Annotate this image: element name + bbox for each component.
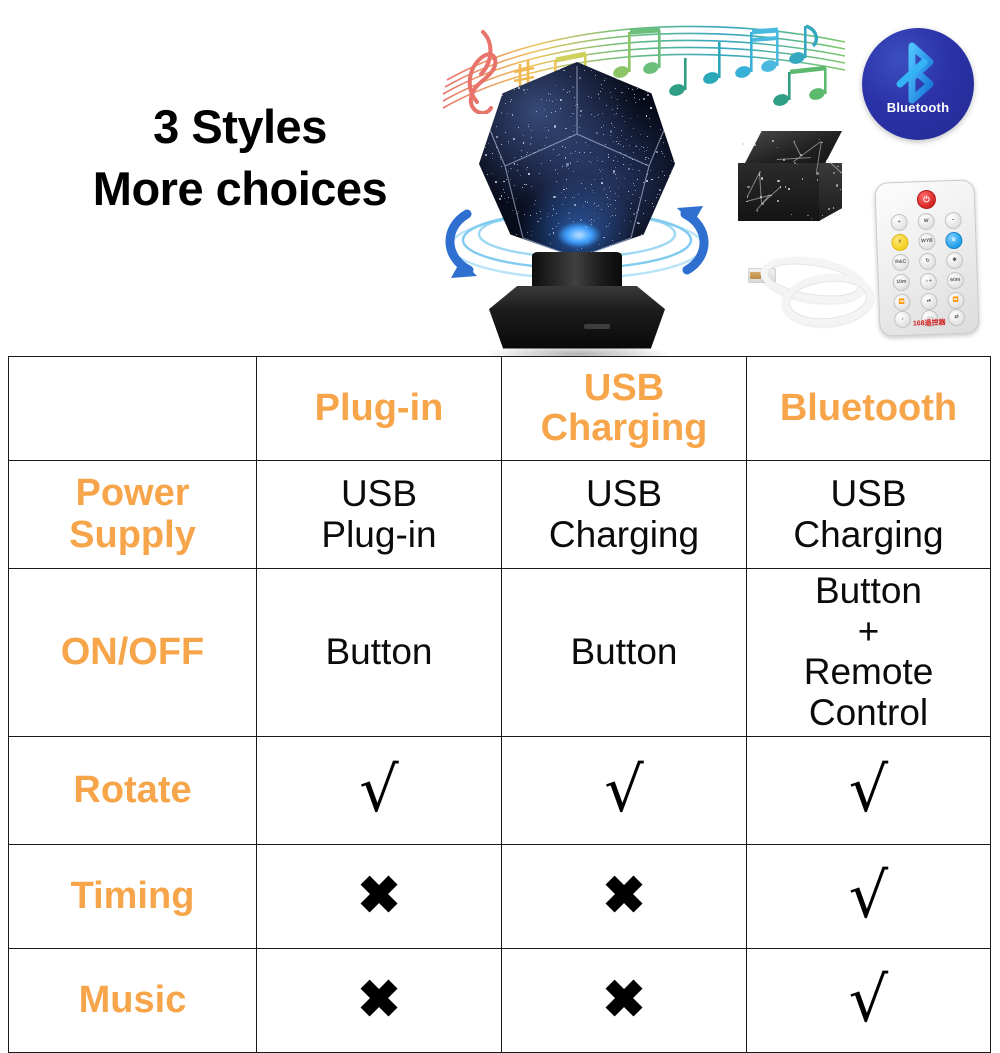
bluetooth-badge-label: Bluetooth — [862, 100, 974, 115]
header-plugin-label: Plug-in — [261, 389, 497, 429]
remote-prev-button[interactable]: ⏪ — [893, 294, 911, 312]
hero-section: 3 Styles More choices — [0, 0, 1000, 356]
remote-wyb-button[interactable]: WYB — [918, 233, 936, 251]
check-icon: √ — [751, 759, 986, 821]
header-usb-line2: Charging — [506, 409, 742, 449]
remote-minus-button[interactable]: − — [944, 212, 962, 230]
cell-rotate-usb: √ — [502, 736, 747, 844]
bluetooth-icon — [892, 42, 944, 104]
check-icon: √ — [751, 865, 986, 927]
remote-y-button[interactable]: Y — [891, 234, 909, 252]
comparison-table-wrapper: Plug-in USB Charging Bluetooth Power Sup… — [8, 356, 990, 988]
check-icon: √ — [751, 969, 986, 1031]
star-globe — [479, 62, 675, 258]
remote-effect-button[interactable]: ✱ — [946, 252, 964, 270]
remote-w-button[interactable]: W — [917, 213, 935, 231]
header-cell-empty — [9, 357, 257, 461]
row-label-rotate: Rotate — [9, 736, 257, 844]
remote-play-pause-button[interactable]: ⏯ — [920, 293, 938, 311]
star-projector-lamp — [437, 62, 717, 352]
page-headline: 3 Styles More choices — [40, 96, 440, 220]
cross-icon: ✖ — [506, 974, 742, 1026]
cross-icon: ✖ — [261, 974, 497, 1026]
row-label-power-supply: Power Supply — [9, 461, 257, 569]
cell-rotate-plugin: √ — [257, 736, 502, 844]
table-row-rotate: Rotate √ √ √ — [9, 736, 991, 844]
constellation-gift-box — [738, 131, 848, 231]
remote-next-button[interactable]: ⏩ — [947, 292, 965, 310]
cell-power-bluetooth: USB Charging — [747, 461, 991, 569]
remote-brightness-up-button[interactable]: ☼+ — [920, 273, 938, 291]
table-row-onoff: ON/OFF Button Button Button + Remote Con… — [9, 569, 991, 737]
header-cell-bluetooth: Bluetooth — [747, 357, 991, 461]
projector-glow — [557, 222, 601, 248]
row-label-onoff: ON/OFF — [9, 569, 257, 737]
row-label-music: Music — [9, 948, 257, 1052]
headline-line-1: 3 Styles — [40, 96, 440, 158]
remote-timer-60m-button[interactable]: 60m — [947, 272, 965, 290]
remote-plus-button[interactable]: + — [890, 214, 908, 232]
cell-timing-bluetooth: √ — [747, 844, 991, 948]
cell-music-bluetooth: √ — [747, 948, 991, 1052]
table-row-music: Music ✖ ✖ √ — [9, 948, 991, 1052]
usb-cable — [748, 252, 868, 320]
headline-line-2: More choices — [40, 158, 440, 220]
row-label-timing: Timing — [9, 844, 257, 948]
cell-power-usb: USB Charging — [502, 461, 747, 569]
cell-music-plugin: ✖ — [257, 948, 502, 1052]
cell-rotate-bluetooth: √ — [747, 736, 991, 844]
cell-music-usb: ✖ — [502, 948, 747, 1052]
comparison-table: Plug-in USB Charging Bluetooth Power Sup… — [8, 356, 991, 1053]
remote-rc-button[interactable]: R&C — [892, 254, 910, 272]
header-usb-line1: USB — [506, 369, 742, 409]
remote-timer-10m-button[interactable]: 10m — [893, 274, 911, 292]
bluetooth-badge: Bluetooth — [862, 28, 974, 140]
product-comparison-page: 3 Styles More choices — [0, 0, 1000, 1000]
cell-timing-usb: ✖ — [502, 844, 747, 948]
cell-power-plugin: USB Plug-in — [257, 461, 502, 569]
header-cell-usb-charging: USB Charging — [502, 357, 747, 461]
header-cell-plugin: Plug-in — [257, 357, 502, 461]
cell-onoff-usb: Button — [502, 569, 747, 737]
cross-icon: ✖ — [506, 870, 742, 922]
table-header-row: Plug-in USB Charging Bluetooth — [9, 357, 991, 461]
remote-b-button[interactable]: B — [945, 232, 963, 250]
table-row-power-supply: Power Supply USB Plug-in USB Charging US… — [9, 461, 991, 569]
remote-control: ⏻ + W − Y WYB B R&C ↻ ✱ 10m ☼+ 60m ⏪ ⏯ ⏩… — [874, 179, 979, 336]
header-bluetooth-label: Bluetooth — [751, 389, 986, 429]
remote-power-button[interactable]: ⏻ — [917, 190, 937, 210]
cell-timing-plugin: ✖ — [257, 844, 502, 948]
cell-onoff-bluetooth: Button + Remote Control — [747, 569, 991, 737]
cell-onoff-plugin: Button — [257, 569, 502, 737]
remote-model-label: 168遥控器 — [880, 316, 978, 329]
table-row-timing: Timing ✖ ✖ √ — [9, 844, 991, 948]
check-icon: √ — [261, 759, 497, 821]
remote-rotate-button[interactable]: ↻ — [919, 253, 937, 271]
check-icon: √ — [506, 759, 742, 821]
cross-icon: ✖ — [261, 870, 497, 922]
